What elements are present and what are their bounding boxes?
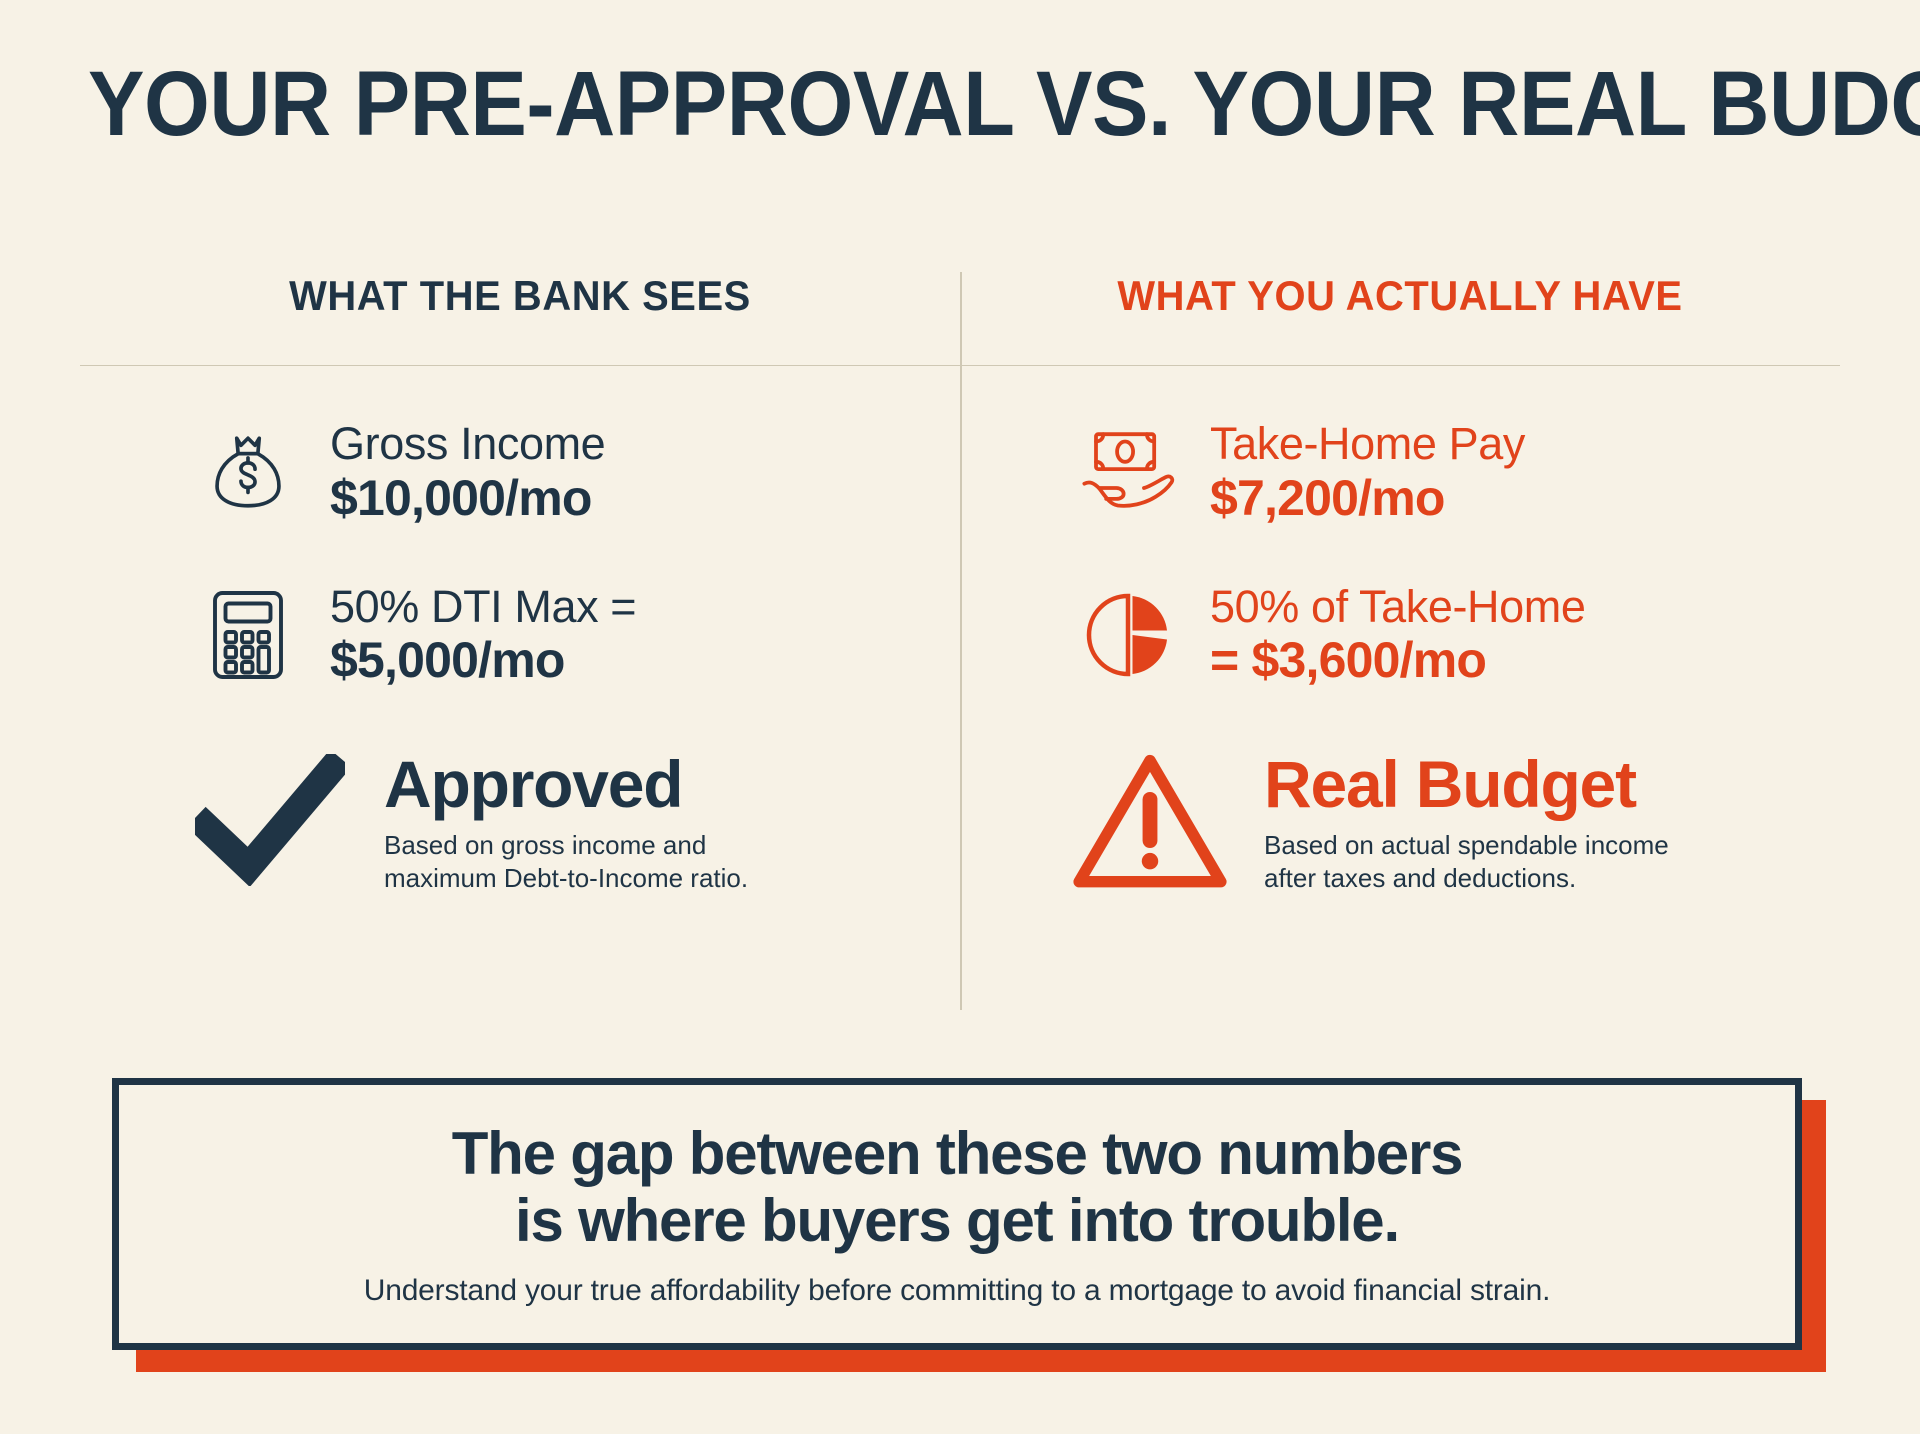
row-text: Take-Home Pay $7,200/mo xyxy=(1210,420,1525,525)
row-value: = $3,600/mo xyxy=(1210,633,1585,687)
row-label: Gross Income xyxy=(330,420,605,469)
row-text: 50% of Take-Home = $3,600/mo xyxy=(1210,583,1585,688)
callout-panel: The gap between these two numbers is whe… xyxy=(112,1078,1802,1350)
row-text: 50% DTI Max = $5,000/mo xyxy=(330,583,636,688)
row-text: Gross Income $10,000/mo xyxy=(330,420,605,525)
comparison-columns: Gross Income $10,000/mo xyxy=(80,420,1840,895)
verdict-subtitle: Based on gross income and maximum Debt-t… xyxy=(384,829,748,894)
row-label: 50% of Take-Home xyxy=(1210,583,1585,632)
verdict-title: Real Budget xyxy=(1264,751,1669,817)
checkmark-icon xyxy=(190,745,350,895)
pie-chart-icon xyxy=(1080,587,1176,683)
row-gross-income: Gross Income $10,000/mo xyxy=(80,420,960,525)
verdict-approved: Approved Based on gross income and maxim… xyxy=(80,745,960,895)
row-label: 50% DTI Max = xyxy=(330,583,636,632)
callout-headline: The gap between these two numbers is whe… xyxy=(452,1120,1463,1254)
infographic-canvas: YOUR PRE-APPROVAL VS. YOUR REAL BUDGET W… xyxy=(0,0,1920,1434)
row-take-home-pay: Take-Home Pay $7,200/mo xyxy=(960,420,1840,525)
verdict-real-budget: Real Budget Based on actual spendable in… xyxy=(960,745,1840,895)
page-title: YOUR PRE-APPROVAL VS. YOUR REAL BUDGET xyxy=(88,58,1716,150)
row-value: $7,200/mo xyxy=(1210,471,1525,525)
money-bag-icon xyxy=(200,424,296,520)
column-header-real: WHAT YOU ACTUALLY HAVE xyxy=(982,272,1818,320)
row-half-take-home: 50% of Take-Home = $3,600/mo xyxy=(960,583,1840,688)
column-header-bank: WHAT THE BANK SEES xyxy=(102,272,938,320)
calculator-icon xyxy=(200,587,296,683)
verdict-subtitle: Based on actual spendable income after t… xyxy=(1264,829,1669,894)
row-dti-max: 50% DTI Max = $5,000/mo xyxy=(80,583,960,688)
verdict-title: Approved xyxy=(384,751,748,817)
column-bank: Gross Income $10,000/mo xyxy=(80,420,960,895)
callout-box: The gap between these two numbers is whe… xyxy=(112,1078,1812,1368)
row-value: $10,000/mo xyxy=(330,471,605,525)
cash-in-hand-icon xyxy=(1080,424,1176,520)
verdict-text: Approved Based on gross income and maxim… xyxy=(384,745,748,894)
row-value: $5,000/mo xyxy=(330,633,636,687)
column-real: Take-Home Pay $7,200/mo 50% of Take-Home… xyxy=(960,420,1840,895)
verdict-text: Real Budget Based on actual spendable in… xyxy=(1264,745,1669,894)
row-label: Take-Home Pay xyxy=(1210,420,1525,469)
warning-triangle-icon xyxy=(1070,745,1230,895)
callout-subtext: Understand your true affordability befor… xyxy=(364,1274,1550,1308)
